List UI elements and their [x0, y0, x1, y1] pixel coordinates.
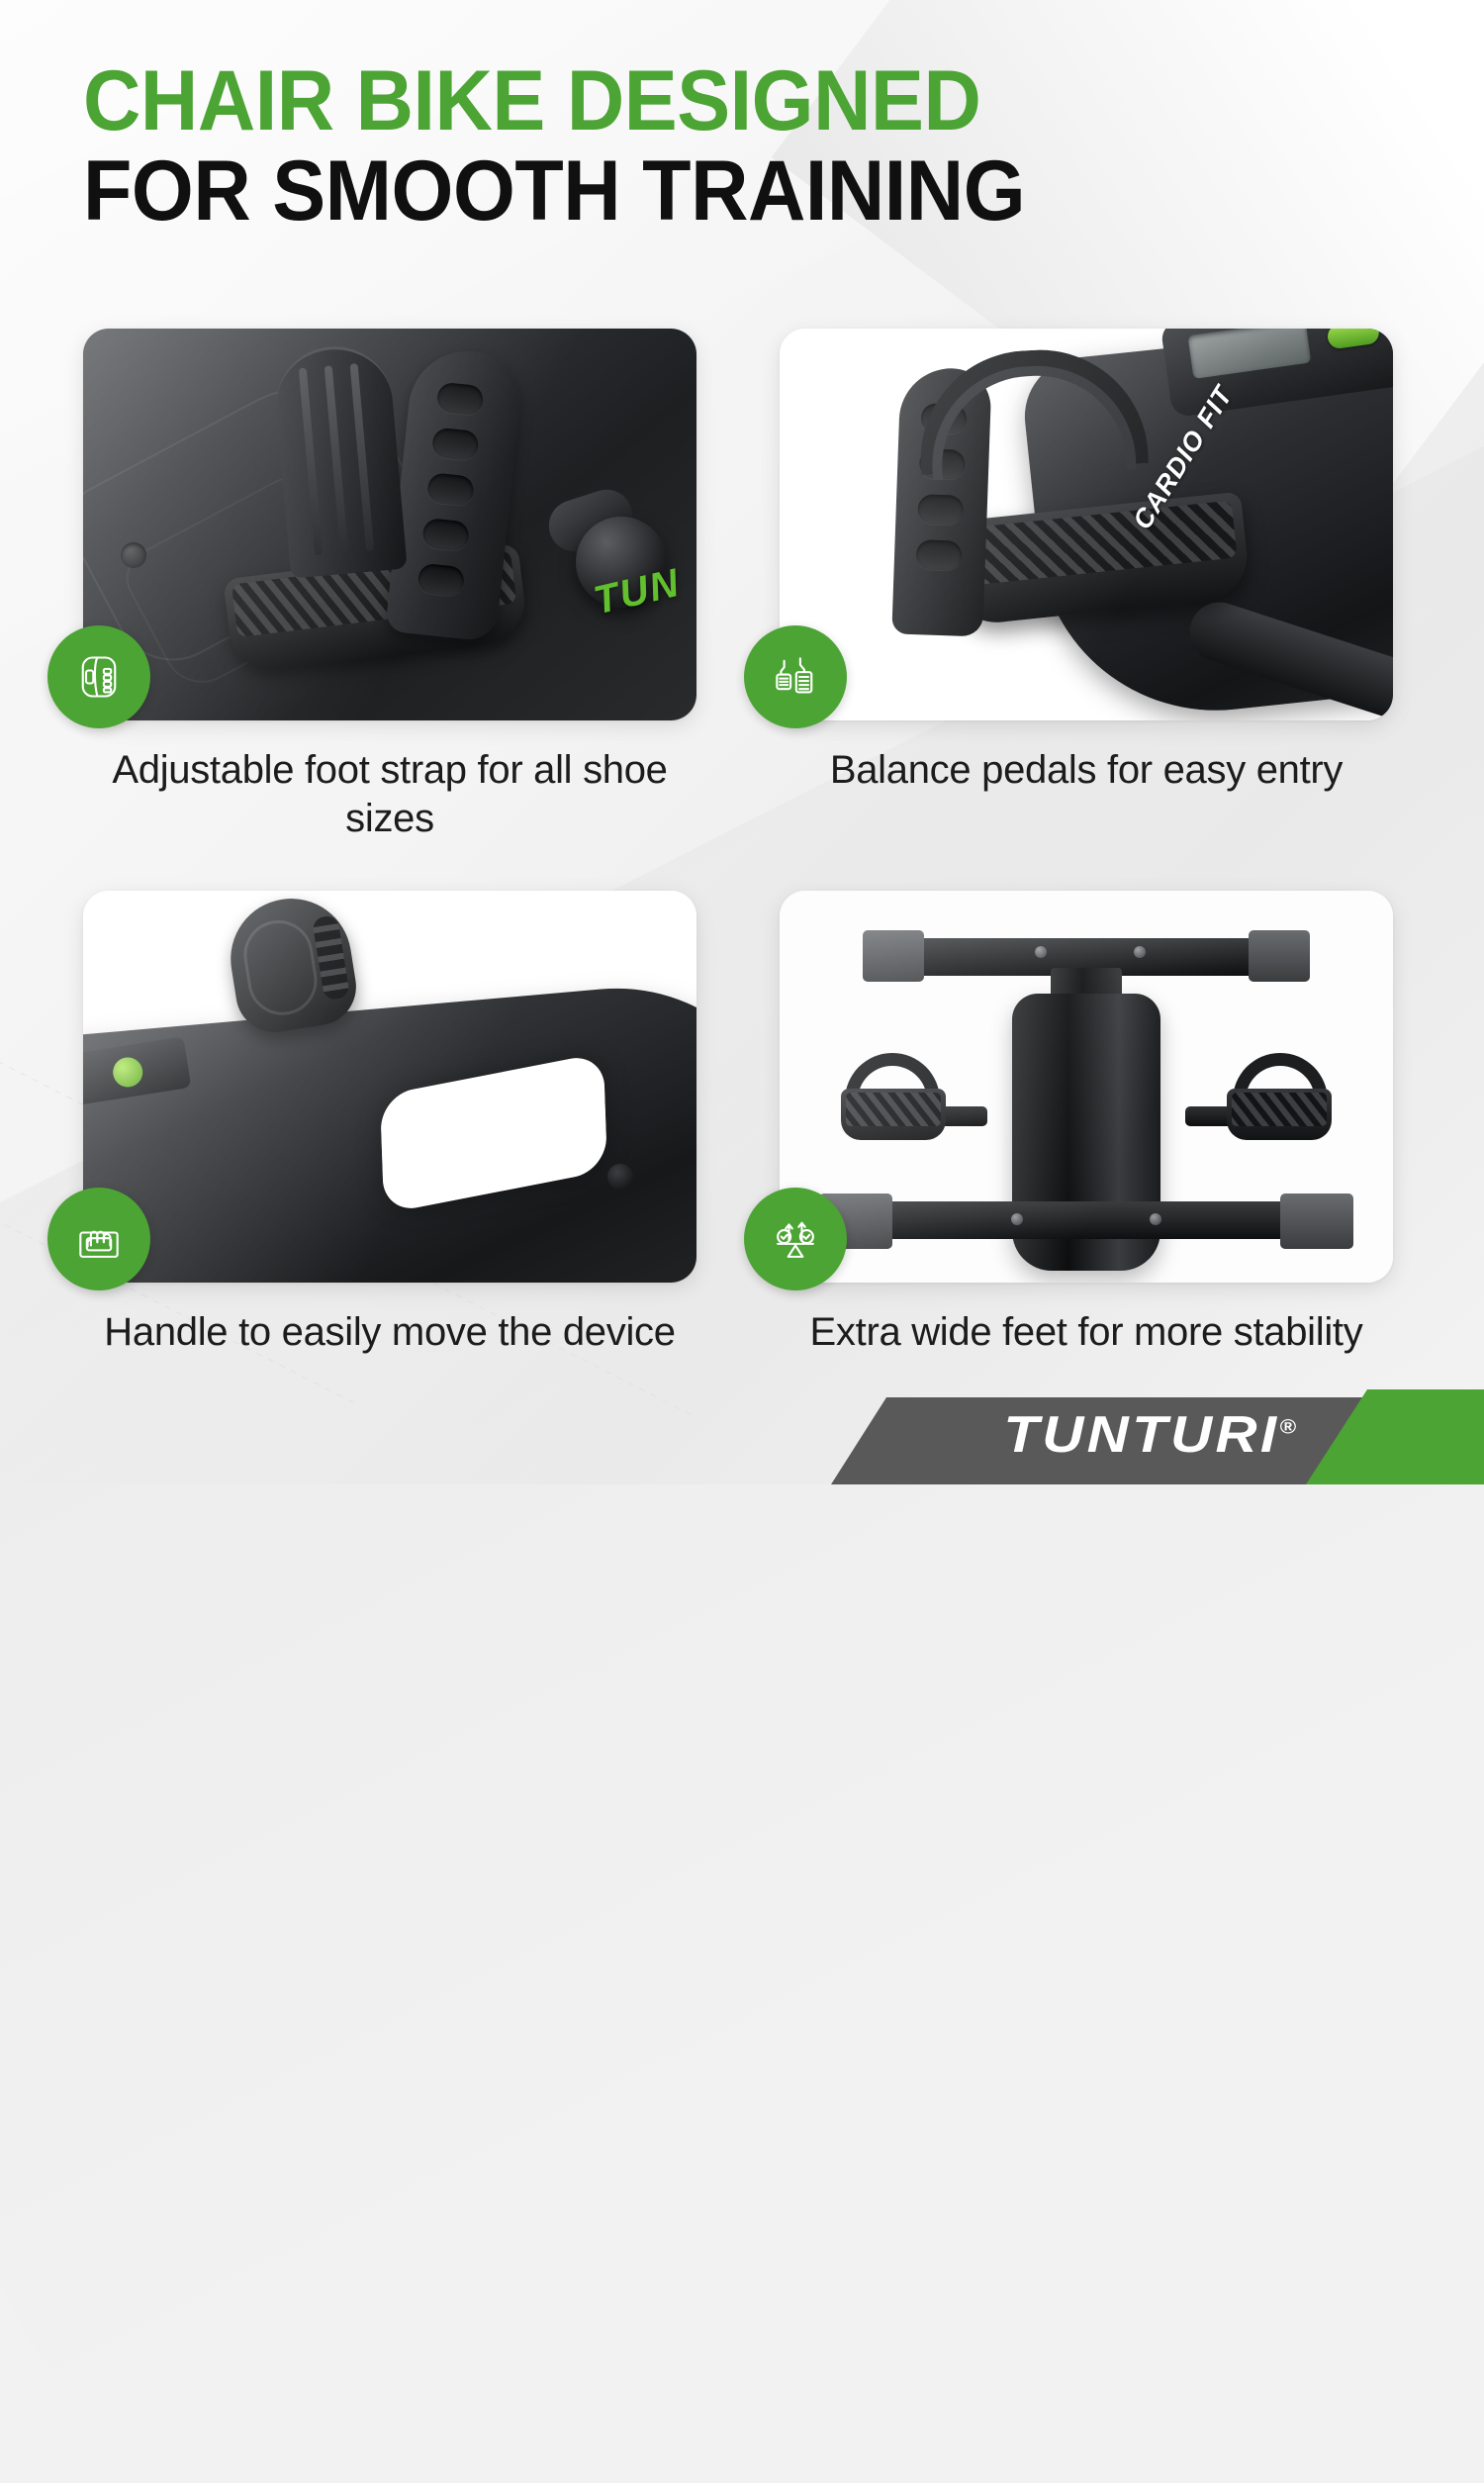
pedal-platform	[841, 1089, 946, 1140]
console-button	[111, 1055, 144, 1089]
balance-pedals-icon	[744, 625, 847, 728]
strap-rib	[299, 368, 324, 556]
feature-grid: TUN Adjustable foot strap for all shoe s…	[0, 329, 1484, 1356]
feature-caption: Adjustable foot strap for all shoe sizes	[83, 746, 696, 843]
title-line-1: CHAIR BIKE DESIGNED	[83, 61, 1246, 142]
stabiliser-foot	[863, 930, 924, 982]
strap-rib	[350, 363, 375, 551]
trademark-symbol: ®	[1279, 1417, 1296, 1439]
cap-slots	[312, 914, 350, 1001]
bolt	[1011, 1213, 1023, 1225]
foot-strap-icon	[47, 625, 150, 728]
bolt	[1035, 946, 1047, 958]
photo-stage	[780, 891, 1393, 1283]
pedal-platform	[1227, 1089, 1332, 1140]
stability-balance-glyph	[770, 1213, 821, 1265]
title-line-2: FOR SMOOTH TRAINING	[83, 151, 1246, 232]
hand-handle-glyph	[73, 1213, 125, 1265]
feature-card-wide-feet: Extra wide feet for more stability	[742, 891, 1484, 1357]
stabiliser-foot	[1280, 1194, 1353, 1249]
screw-hole	[121, 542, 146, 568]
photo-stage: CARDIO FIT	[780, 329, 1393, 720]
stabiliser-foot	[1249, 930, 1310, 982]
pedal-tread	[956, 501, 1238, 587]
screw-hole	[607, 1164, 633, 1190]
strap-slot	[436, 382, 485, 417]
strap-slot	[417, 563, 465, 598]
page-title: CHAIR BIKE DESIGNED FOR SMOOTH TRAINING	[83, 61, 1320, 232]
feature-photo-balance-pedals: CARDIO FIT	[780, 329, 1393, 720]
foot-strap-glyph	[73, 651, 125, 703]
strap-slot	[431, 427, 480, 461]
pedal-cap	[222, 891, 361, 1038]
footer-brand-bar: TUNTURI®	[0, 1389, 1484, 1484]
feature-caption: Balance pedals for easy entry	[780, 746, 1393, 795]
feature-photo-foot-strap: TUN	[83, 329, 696, 720]
bolt	[1150, 1213, 1161, 1225]
feature-card-handle: Handle to easily move the device	[0, 891, 742, 1357]
strap-rib	[325, 365, 349, 553]
bolt	[1134, 946, 1146, 958]
photo-stage	[83, 891, 696, 1283]
tunturi-logo-text: TUNTURI	[1003, 1406, 1279, 1464]
balance-pedals-glyph	[770, 651, 821, 703]
strap-slot	[421, 518, 470, 552]
feature-card-balance-pedals: CARDIO FIT Balance pedals for easy entry	[742, 329, 1484, 843]
pedal-tread	[846, 1093, 941, 1126]
feature-caption: Extra wide feet for more stability	[780, 1308, 1393, 1357]
strap-slot	[916, 539, 963, 571]
tunturi-logo: TUNTURI®	[1003, 1405, 1296, 1465]
feature-row: Handle to easily move the device	[0, 891, 1484, 1357]
console-button	[1326, 329, 1380, 350]
feature-row: TUN Adjustable foot strap for all shoe s…	[0, 329, 1484, 843]
pedal-tread	[1232, 1093, 1327, 1126]
feature-card-foot-strap: TUN Adjustable foot strap for all shoe s…	[0, 329, 742, 843]
photo-stage: TUN	[83, 329, 696, 720]
feature-photo-wide-feet	[780, 891, 1393, 1283]
stability-balance-icon	[744, 1188, 847, 1290]
bottom-stabiliser-bar	[854, 1201, 1319, 1239]
feature-caption: Handle to easily move the device	[83, 1308, 696, 1357]
strap-slot	[426, 472, 475, 507]
cap-ring	[238, 915, 322, 1020]
strap-slot	[917, 494, 964, 525]
feature-photo-handle	[83, 891, 696, 1283]
hand-handle-icon	[47, 1188, 150, 1290]
lcd-display	[1187, 329, 1311, 379]
